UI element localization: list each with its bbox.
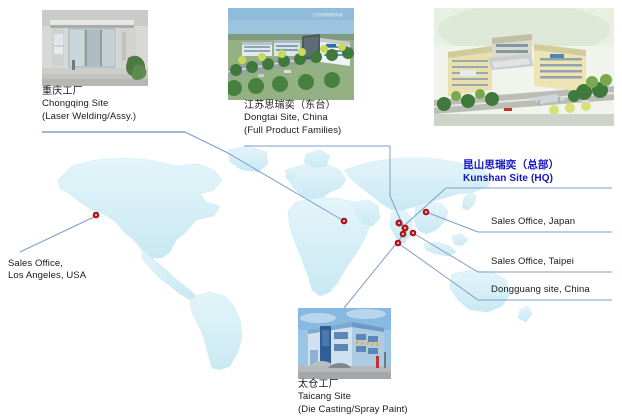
dongtai-label-line-2: Dongtai Site, China — [244, 112, 341, 124]
los-angeles-label-line-1: Sales Office, — [8, 258, 86, 270]
kunshan-hq-label: 昆山思瑞奕（总部） Kunshan Site (HQ) — [463, 159, 559, 185]
chongqing-label-line-1: 重庆工厂 — [42, 86, 136, 98]
sales-office-japan-label: Sales Office, Japan — [491, 216, 575, 228]
taicang-label: 太仓工厂 Taicang Site (Die Casting/Spray Pai… — [298, 379, 408, 416]
chongqing-photo — [42, 10, 148, 86]
sales-office-japan-text: Sales Office, Japan — [491, 216, 575, 228]
dongguang-site-label: Dongguang site, China — [491, 284, 590, 296]
dongguang-site-text: Dongguang site, China — [491, 284, 590, 296]
chongqing-label-line-2: Chongqing Site — [42, 98, 136, 110]
kunshan-photo — [434, 8, 614, 126]
dongtai-photo-graphic: 江苏思瑞奕精密机械 — [228, 8, 354, 100]
los-angeles-label-line-2: Los Angeles, USA — [8, 270, 86, 282]
chongqing-label: 重庆工厂 Chongqing Site (Laser Welding/Assy.… — [42, 86, 136, 123]
taicang-label-line-1: 太仓工厂 — [298, 379, 408, 391]
chongqing-photo-graphic — [42, 10, 148, 86]
chongqing-label-line-3: (Laser Welding/Assy.) — [42, 111, 136, 123]
slide-canvas: 江苏思瑞奕精密机械 — [0, 0, 622, 418]
taicang-label-line-3: (Die Casting/Spray Paint) — [298, 404, 408, 416]
kunshan-photo-graphic — [434, 8, 614, 126]
kunshan-hq-label-line-1: 昆山思瑞奕（总部） — [463, 159, 559, 172]
taicang-label-line-2: Taicang Site — [298, 391, 408, 403]
dongtai-photo: 江苏思瑞奕精密机械 — [228, 8, 354, 100]
dongtai-label-line-3: (Full Product Families) — [244, 125, 341, 137]
sales-office-los-angeles-label: Sales Office, Los Angeles, USA — [8, 258, 86, 283]
sales-office-taipei-label: Sales Office, Taipei — [491, 256, 574, 268]
kunshan-hq-label-line-2: Kunshan Site (HQ) — [463, 172, 559, 185]
svg-text:江苏思瑞奕精密机械: 江苏思瑞奕精密机械 — [312, 12, 343, 17]
taicang-photo-graphic — [298, 308, 391, 379]
sales-office-taipei-text: Sales Office, Taipei — [491, 256, 574, 268]
taicang-photo — [298, 308, 391, 379]
dongtai-label: 江苏思瑞奕（东台） Dongtai Site, China (Full Prod… — [244, 100, 341, 137]
dongtai-label-line-1: 江苏思瑞奕（东台） — [244, 100, 341, 112]
